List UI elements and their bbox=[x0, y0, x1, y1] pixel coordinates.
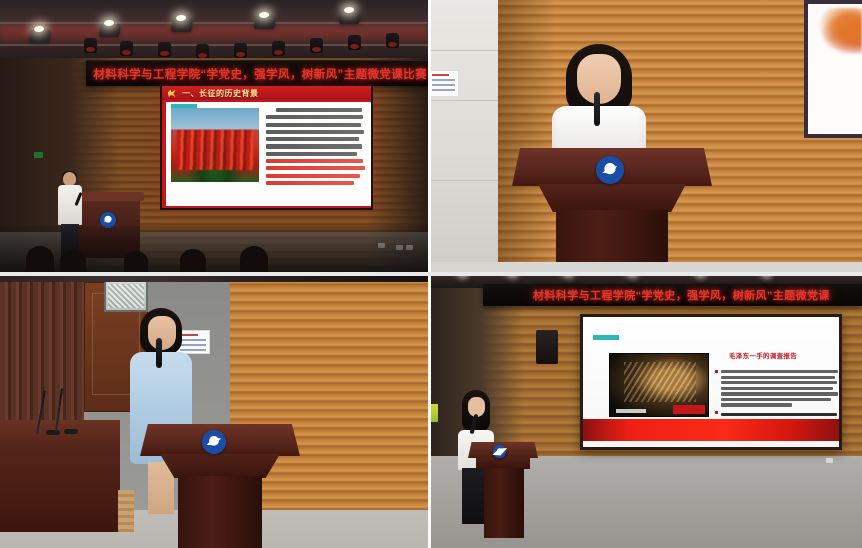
slide-photo-long-march bbox=[171, 108, 259, 182]
exit-sign-icon bbox=[34, 152, 43, 158]
presentation-screen: 毛泽东一手的调查报告 bbox=[580, 314, 842, 450]
podium bbox=[512, 148, 712, 272]
video-tag bbox=[673, 405, 705, 414]
female-presenter bbox=[552, 44, 646, 156]
video-caption bbox=[616, 409, 646, 413]
par-can-light-icon bbox=[196, 44, 209, 59]
slide-bottom-band bbox=[583, 419, 839, 441]
par-can-light-icon bbox=[386, 33, 399, 48]
podium-top bbox=[74, 192, 144, 201]
presenter-shirt bbox=[58, 185, 82, 225]
podium-column bbox=[178, 476, 262, 548]
slide-accent-bar bbox=[593, 335, 619, 340]
par-can-light-icon bbox=[234, 43, 247, 58]
slide-title: 毛泽东一手的调查报告 bbox=[729, 350, 829, 360]
slide-title: 一、长征的历史背景 bbox=[182, 88, 259, 99]
presentation-screen: 一、长征的历史背景 bbox=[160, 84, 373, 210]
stage-light-icon bbox=[254, 16, 276, 29]
conference-table bbox=[0, 420, 120, 532]
panel-bottom-left bbox=[0, 272, 428, 548]
exit-sign-icon bbox=[430, 404, 438, 422]
par-can-light-icon bbox=[120, 41, 133, 56]
podium-middle bbox=[538, 184, 686, 212]
event-banner: 材料科学与工程学院“学党史，强学风，树新风”主题微党课 bbox=[483, 284, 862, 306]
audience-head bbox=[60, 250, 86, 272]
slide-video-thumbnail bbox=[609, 353, 709, 417]
microphone-base bbox=[64, 429, 78, 434]
panel-top-left: 材料科学与工程学院“学党史，强学风，树新风”主题微党课比赛 一、长征的历史背景 bbox=[0, 0, 428, 272]
stone-seam bbox=[428, 100, 498, 101]
par-can-light-icon bbox=[310, 38, 323, 53]
university-emblem-icon bbox=[493, 445, 506, 458]
stage-light-icon bbox=[339, 11, 361, 24]
par-can-light-icon bbox=[158, 42, 171, 57]
audience-head bbox=[240, 246, 268, 272]
podium-column bbox=[484, 468, 524, 538]
stone-seam bbox=[428, 50, 498, 51]
slide-body bbox=[166, 102, 371, 206]
lighting-rail-upper bbox=[0, 22, 428, 24]
wall-notice-sign bbox=[428, 70, 459, 97]
event-banner-text: 材料科学与工程学院“学党史，强学风，树新风”主题微党课比赛 bbox=[93, 66, 427, 82]
display-screen bbox=[804, 0, 862, 138]
wall-plate bbox=[826, 458, 833, 463]
par-can-light-icon bbox=[348, 35, 361, 50]
university-emblem-icon bbox=[596, 156, 624, 184]
microphone-icon bbox=[594, 92, 600, 126]
podium bbox=[468, 442, 538, 538]
microphone-icon bbox=[156, 338, 162, 368]
panel-top-right bbox=[428, 0, 862, 272]
microphone-base bbox=[46, 430, 60, 435]
panel-divider-horizontal bbox=[0, 272, 862, 276]
lighting-rail-lower bbox=[0, 44, 428, 46]
presenter-head bbox=[63, 172, 76, 186]
audience-head bbox=[180, 249, 206, 272]
podium-middle bbox=[160, 454, 280, 478]
stone-wall bbox=[428, 0, 498, 272]
par-can-light-icon bbox=[84, 38, 97, 53]
podium bbox=[140, 424, 300, 548]
stone-seam bbox=[428, 180, 498, 181]
stage-light-icon bbox=[29, 30, 51, 43]
event-banner: 材料科学与工程学院“学党史，强学风，树新风”主题微党课比赛 bbox=[86, 60, 428, 86]
par-can-light-icon bbox=[272, 41, 285, 56]
stage-light-icon bbox=[99, 24, 121, 37]
panel-bottom-right: 材料科学与工程学院“学党史，强学风，树新风”主题微党课 毛泽东一手的调查报告 bbox=[428, 272, 862, 548]
event-banner-text: 材料科学与工程学院“学党史，强学风，树新风”主题微党课 bbox=[533, 287, 830, 303]
audience-head bbox=[124, 251, 148, 272]
audience-row bbox=[0, 226, 428, 272]
slide-text-block bbox=[264, 107, 368, 203]
speaker-box bbox=[536, 330, 558, 364]
photo-collage: 材料科学与工程学院“学党史，强学风，树新风”主题微党课比赛 一、长征的历史背景 bbox=[0, 0, 862, 548]
slide-bullets bbox=[721, 361, 839, 424]
presenter-face bbox=[148, 316, 176, 350]
university-emblem-icon bbox=[202, 430, 226, 454]
floor bbox=[428, 262, 862, 272]
stage-light-icon bbox=[171, 19, 193, 32]
screen-content bbox=[818, 8, 862, 54]
audience-head bbox=[26, 246, 54, 272]
